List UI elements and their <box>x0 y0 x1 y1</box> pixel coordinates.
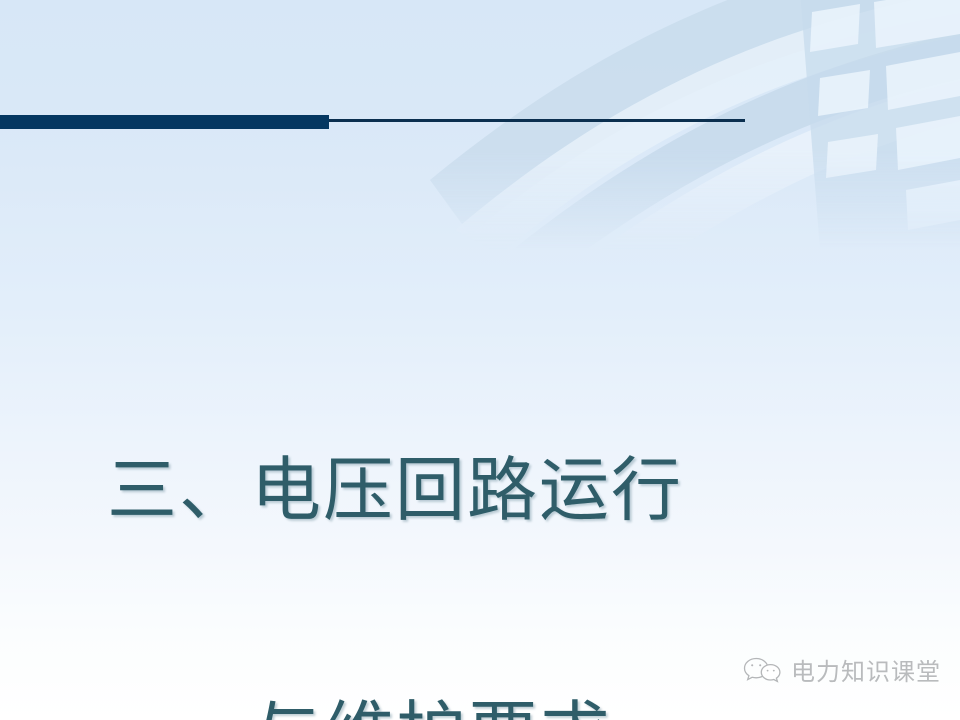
header-rule-group <box>0 113 960 133</box>
slide-title-line-2: 与维护要求 <box>74 694 790 720</box>
slide-canvas: 三、电压回路运行 与维护要求 电力知识课堂 <box>0 0 960 720</box>
slide-title-line-1: 三、电压回路运行 <box>0 450 790 531</box>
slide-title: 三、电压回路运行 与维护要求 <box>0 288 790 720</box>
swoosh-arc-band <box>430 0 960 305</box>
watermark: 电力知识课堂 <box>742 652 941 687</box>
watermark-text: 电力知识课堂 <box>791 652 941 687</box>
header-rule-thick <box>0 115 329 129</box>
header-rule-thin <box>329 119 745 122</box>
wechat-icon <box>742 654 782 686</box>
